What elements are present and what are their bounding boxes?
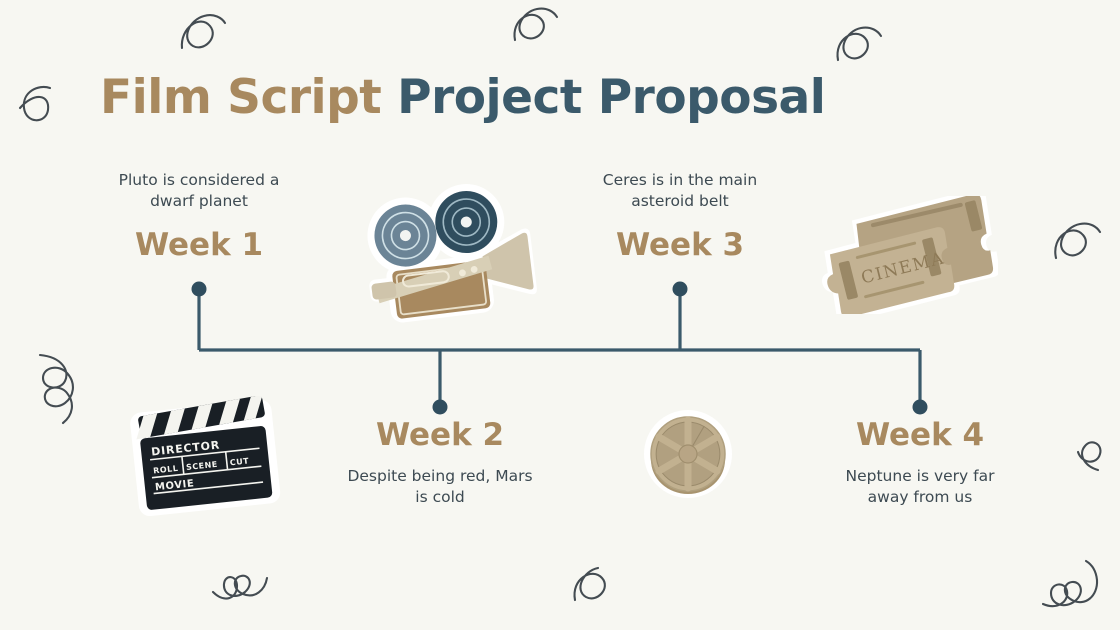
- milestone-week-3-label: Week 3: [555, 228, 805, 264]
- milestone-week-2: Week 2 Despite being red, Mars is cold: [310, 418, 570, 507]
- milestone-week-3-description: Ceres is in the main asteroid belt: [555, 170, 805, 212]
- slide-title: Film Script Project Proposal: [100, 72, 825, 124]
- timeline-dot-week-3: [673, 282, 688, 297]
- doodle-curl-left: [40, 355, 73, 423]
- cinema-tickets-icon: CINEMA: [820, 196, 998, 314]
- milestone-week-4: Week 4 Neptune is very far away from us: [795, 418, 1045, 507]
- doodle-loop-top-a: [182, 15, 225, 48]
- milestone-week-2-description: Despite being red, Mars is cold: [310, 466, 570, 508]
- milestone-week-1: Pluto is considered a dwarf planet Week …: [69, 170, 329, 263]
- film-camera-icon: [348, 183, 540, 325]
- timeline-dot-week-4: [913, 400, 928, 415]
- doodle-loop-right-a: [1055, 224, 1100, 258]
- milestone-week-1-label: Week 1: [69, 228, 329, 264]
- timeline-dot-week-2: [433, 400, 448, 415]
- milestone-week-3: Ceres is in the main asteroid belt Week …: [555, 170, 805, 263]
- timeline-dot-week-1: [192, 282, 207, 297]
- film-reel-icon: [626, 406, 750, 506]
- doodle-loop-topleft: [20, 87, 50, 120]
- milestone-week-2-label: Week 2: [310, 418, 570, 454]
- doodle-curl-bottom-right: [1043, 561, 1097, 606]
- title-main: Project Proposal: [381, 70, 825, 125]
- slide-canvas: Film Script Project Proposal Pluto is co…: [0, 0, 1120, 630]
- clapperboard-icon: DIRECTOR ROLL SCENE CUT MOVIE: [126, 396, 284, 516]
- milestone-week-4-label: Week 4: [795, 418, 1045, 454]
- milestone-week-1-description: Pluto is considered a dwarf planet: [69, 170, 329, 212]
- title-accent: Film Script: [100, 70, 381, 125]
- doodle-curl-right-b: [1078, 442, 1100, 470]
- doodle-loop-bottom-a: [213, 576, 267, 599]
- doodle-loop-top-b: [514, 9, 557, 40]
- milestone-week-4-description: Neptune is very far away from us: [795, 466, 1045, 508]
- doodle-loop-top-c: [837, 28, 881, 60]
- doodle-loop-bottom-b: [574, 568, 604, 600]
